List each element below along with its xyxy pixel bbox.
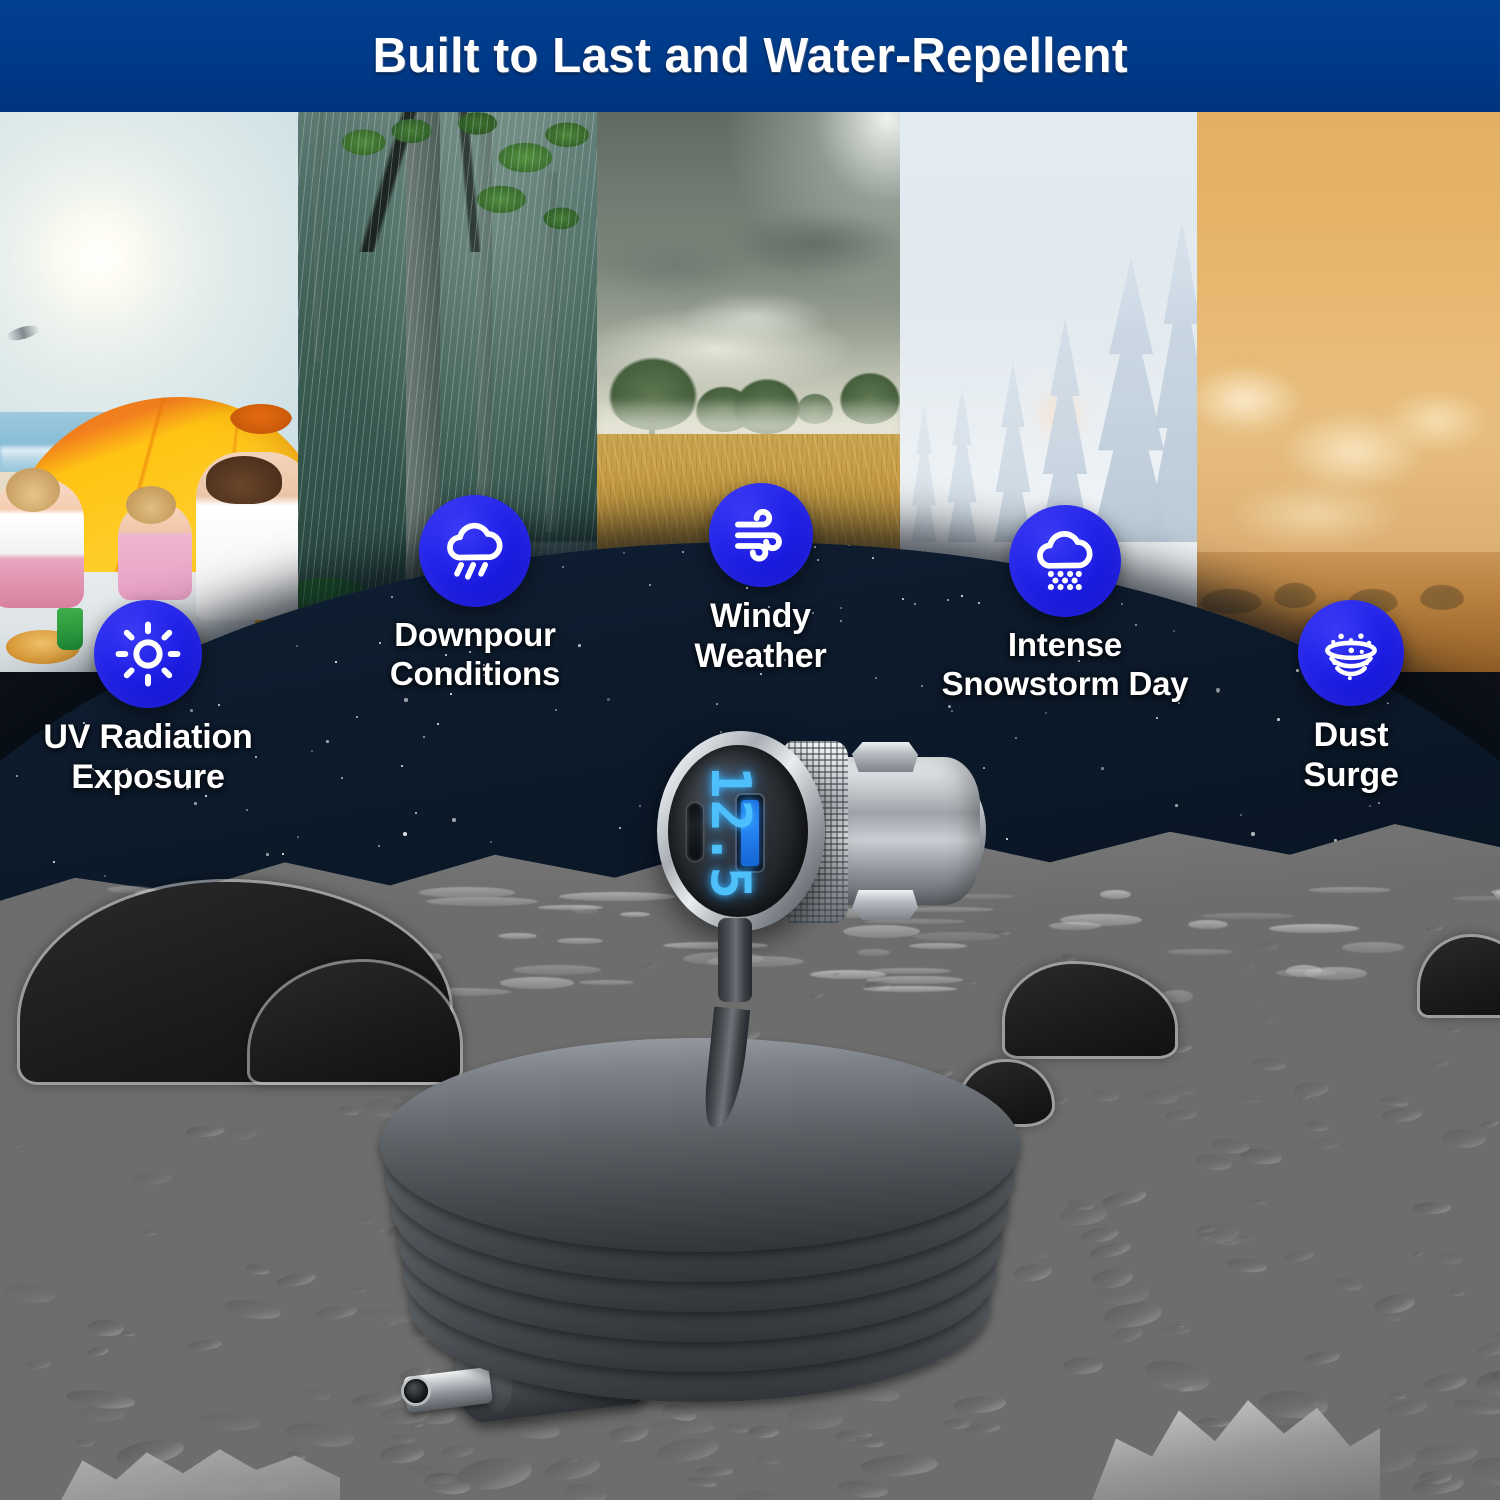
dust-swirl-icon [1298,600,1404,706]
infographic-root: Built to Last and Water-Repellent [0,0,1500,1500]
sun-icon [94,600,202,708]
feature-downpour[interactable]: Downpour Conditions [330,495,620,694]
feature-label: Intense Snowstorm Day [905,626,1225,704]
snow-cloud-icon [1009,505,1121,617]
lunar-scene [0,112,1500,1500]
rain-cloud-icon [419,495,531,607]
feature-label: Dust Surge [1255,715,1447,795]
feature-dust-surge[interactable]: Dust Surge [1255,600,1447,795]
feature-label: UV Radiation Exposure [28,717,268,797]
feature-uv-radiation[interactable]: UV Radiation Exposure [28,600,268,797]
feature-snowstorm[interactable]: Intense Snowstorm Day [905,505,1225,704]
feature-label: Windy Weather [633,596,888,676]
feature-windy[interactable]: Windy Weather [633,483,888,676]
page-title: Built to Last and Water-Repellent [372,28,1127,84]
feature-label: Downpour Conditions [330,616,620,694]
header-banner: Built to Last and Water-Repellent [0,0,1500,112]
wind-icon [709,483,813,587]
